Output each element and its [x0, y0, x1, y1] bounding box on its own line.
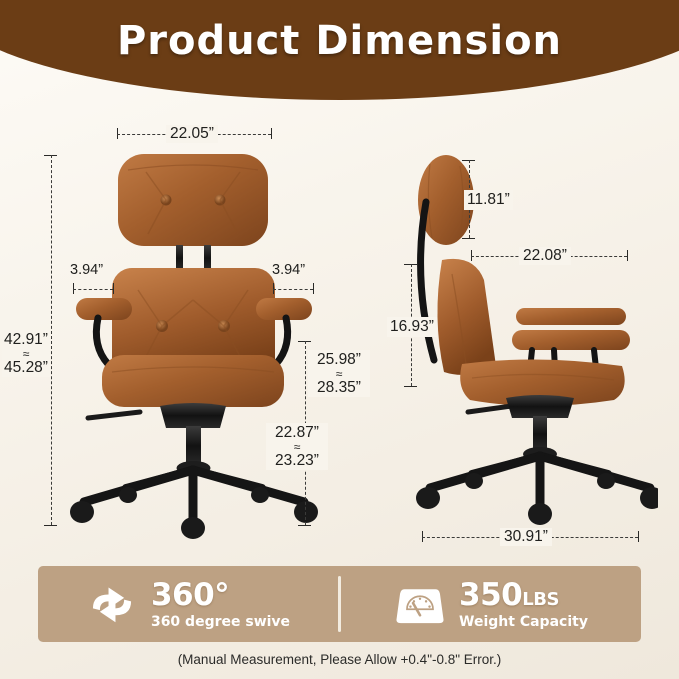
dim-line-armrest-left	[73, 289, 113, 290]
dim-base-height-min: 22.87”	[275, 424, 319, 441]
dim-seat-depth: 22.08”	[519, 247, 571, 265]
office-chair-front-view	[68, 150, 328, 540]
dim-tick	[404, 386, 417, 387]
dim-seat-height-min: 25.98”	[317, 351, 361, 368]
feature-swivel-value-row: 360°	[151, 580, 290, 611]
dim-tick	[462, 238, 475, 239]
dim-line-armrest-right	[273, 289, 313, 290]
measurement-disclaimer: (Manual Measurement, Please Allow +0.4"-…	[0, 652, 679, 667]
infographic-canvas: Product Dimension	[0, 0, 679, 679]
feature-weight-unit: LBS	[522, 589, 559, 610]
dim-tick	[271, 128, 272, 139]
dim-seat-height-max: 28.35”	[317, 379, 361, 396]
feature-weight-label: Weight Capacity	[459, 615, 588, 629]
dim-headrest-height: 11.81”	[464, 190, 513, 210]
dim-tick	[113, 283, 114, 294]
dim-base-width: 30.91”	[500, 528, 552, 546]
feature-weight-value-row: 350LBS	[459, 580, 588, 611]
dim-backrest-height: 16.93”	[387, 317, 437, 337]
dim-tick	[44, 525, 57, 526]
feature-swivel-text: 360° 360 degree swive	[151, 580, 290, 629]
feature-swivel: 360° 360 degree swive	[38, 580, 338, 629]
dim-total-height-max: 45.28”	[4, 359, 48, 376]
office-chair-side-view	[408, 150, 658, 530]
dim-total-height: 42.91” ≈ 45.28”	[2, 330, 50, 377]
dim-total-height-min: 42.91”	[4, 331, 48, 348]
feature-weight-capacity: 350LBS Weight Capacity	[341, 580, 641, 629]
header-banner: Product Dimension	[0, 0, 679, 120]
dim-armrest-left: 3.94”	[70, 262, 103, 278]
feature-swivel-value: 360	[151, 577, 214, 613]
feature-swivel-unit: °	[214, 577, 229, 613]
page-title: Product Dimension	[0, 18, 679, 64]
range-tilde: ≈	[308, 369, 370, 379]
range-tilde: ≈	[2, 349, 50, 359]
rotate-arrows-icon	[86, 582, 138, 626]
dim-tick	[627, 250, 628, 261]
range-tilde: ≈	[266, 442, 328, 452]
weight-scale-icon	[394, 582, 446, 626]
feature-strip: 360° 360 degree swive 350LBS Weight Capa…	[38, 566, 641, 642]
dim-base-height-max: 23.23”	[275, 452, 319, 469]
feature-weight-value: 350	[459, 577, 522, 613]
dim-tick	[298, 525, 311, 526]
feature-weight-text: 350LBS Weight Capacity	[459, 580, 588, 629]
dim-base-height: 22.87” ≈ 23.23”	[266, 423, 328, 470]
dim-line-total-height	[51, 155, 52, 525]
dim-tick	[313, 283, 314, 294]
dim-backrest-width: 22.05”	[166, 125, 218, 143]
dim-seat-height: 25.98” ≈ 28.35”	[308, 350, 370, 397]
dim-tick	[638, 531, 639, 542]
feature-swivel-label: 360 degree swive	[151, 615, 290, 629]
dim-armrest-right: 3.94”	[272, 262, 305, 278]
